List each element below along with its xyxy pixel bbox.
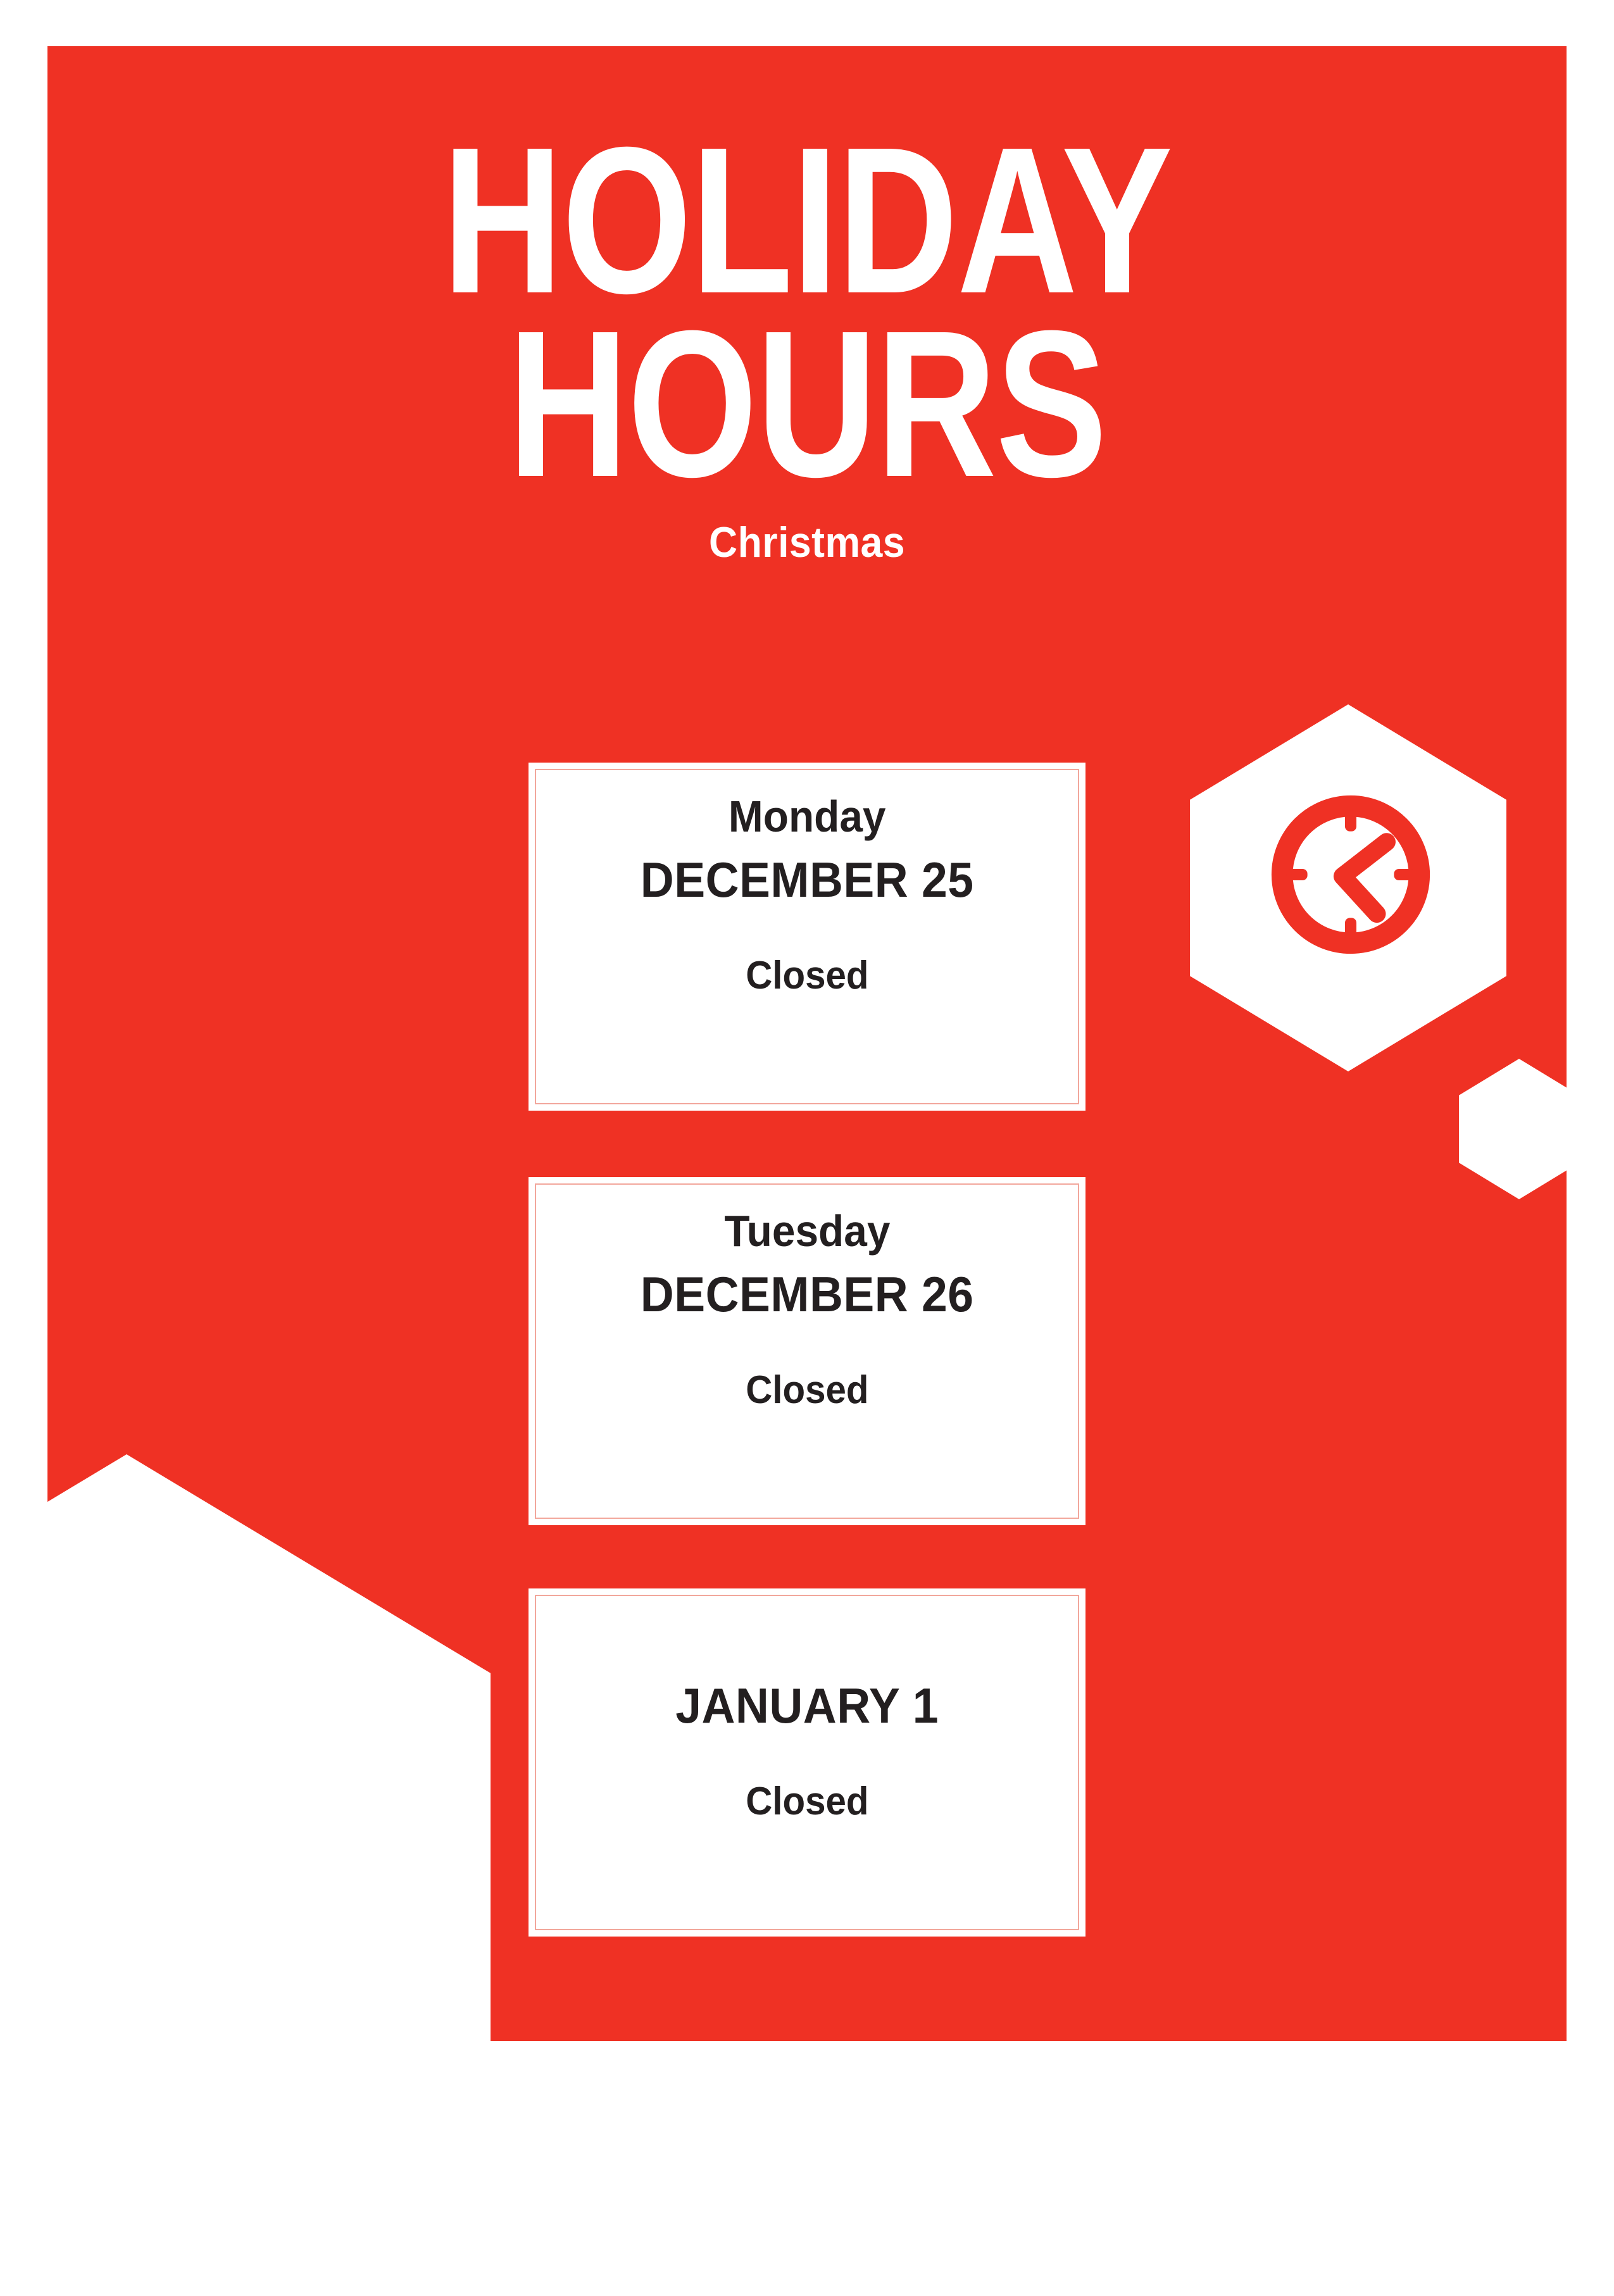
schedule-status: Closed — [746, 1782, 868, 1821]
schedule-card-inner: JANUARY 1 Closed — [535, 1595, 1079, 1930]
schedule-date: JANUARY 1 — [675, 1681, 939, 1730]
page-title-line-1: HOLIDAY — [199, 128, 1415, 312]
schedule-card: Tuesday DECEMBER 26 Closed — [529, 1177, 1085, 1525]
schedule-status: Closed — [746, 1371, 868, 1410]
clock-icon — [1269, 793, 1432, 956]
schedule-card-inner: Monday DECEMBER 25 Closed — [535, 769, 1079, 1104]
schedule-weekday: Monday — [729, 794, 886, 840]
holiday-hours-poster: HOLIDAY HOURS Christmas Monday DECEMBER … — [47, 46, 1567, 2041]
page-subtitle: Christmas — [108, 518, 1506, 567]
schedule-card-inner: Tuesday DECEMBER 26 Closed — [535, 1183, 1079, 1519]
schedule-date: DECEMBER 25 — [641, 855, 974, 904]
schedule-date: DECEMBER 26 — [641, 1270, 974, 1319]
hexagon-shape — [1459, 1059, 1579, 1199]
schedule-weekday: Tuesday — [724, 1209, 890, 1254]
schedule-card: JANUARY 1 Closed — [529, 1588, 1085, 1937]
schedule-status: Closed — [746, 956, 868, 995]
hexagon-shape — [0, 1454, 491, 2296]
poster-header: HOLIDAY HOURS Christmas — [47, 46, 1567, 567]
page-title-line-2: HOURS — [199, 312, 1415, 496]
schedule-card: Monday DECEMBER 25 Closed — [529, 763, 1085, 1111]
